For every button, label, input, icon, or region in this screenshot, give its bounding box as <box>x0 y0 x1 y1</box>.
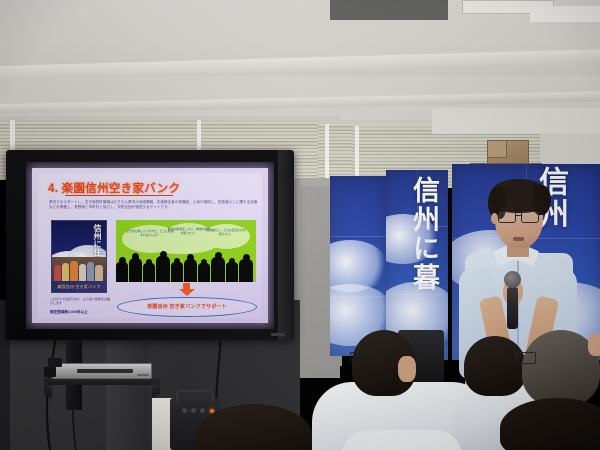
crowd-silhouette <box>184 259 197 282</box>
bubble-text: 田舎暮らし、どんな生活なのか知りたい。 <box>206 229 246 236</box>
amplifier-knob[interactable] <box>182 408 187 413</box>
blind-light-gap <box>325 122 329 186</box>
poster-figure <box>95 265 103 281</box>
poster-figure <box>79 264 86 281</box>
poster-figure <box>54 265 61 281</box>
poster-photo <box>52 257 106 281</box>
microphone-body[interactable] <box>507 287 518 329</box>
presenter-mouth <box>513 237 524 241</box>
slide-poster-image: 信州に住みたい 楽園信州 空き家バンク <box>51 220 107 293</box>
attendee-glasses-left <box>350 352 366 362</box>
tv-brand-logo <box>271 333 285 336</box>
slide-callout-oval: 楽園信州 空き家バンクでサポート <box>117 297 257 317</box>
amplifier-knob[interactable] <box>191 408 196 413</box>
disc-tray-slot[interactable] <box>77 369 133 373</box>
disc-player[interactable] <box>52 363 152 379</box>
slide-canvas: 4. 楽園信州空き家バンク 県内でのスタートし、空き家物件情報はもちろん県内の地… <box>38 173 262 318</box>
bubble-text: 移住の相談をしたい。地域の情報が知りたい。 <box>168 228 210 235</box>
slide-footnote: これだけでは足りない…より良い情報をお届けします <box>50 297 112 306</box>
glasses-lens-right <box>521 211 539 223</box>
crowd-silhouette <box>116 262 128 282</box>
ceiling-light-panel <box>530 6 600 22</box>
attendee-glasses-right <box>516 352 536 364</box>
crowd-head <box>201 259 207 265</box>
slide-title-underline <box>65 195 173 196</box>
glasses-lens-left <box>498 211 516 223</box>
crowd-head <box>215 252 222 259</box>
slide-body-text: 県内でのスタートし、空き家物件情報はもちろん県内の地域情報、先輩移住者の体験談、… <box>49 200 261 211</box>
slide-green-panel: 空き家を探したいけれど、どこに相談すればいいの？ 移住の相談をしたい。地域の情報… <box>116 220 256 282</box>
set-top-box <box>48 358 62 367</box>
wall-band <box>432 108 600 134</box>
speech-bubble <box>146 236 216 254</box>
presenter-ear <box>491 213 498 224</box>
tv-bezel-highlight <box>278 150 294 340</box>
attendee-head-center <box>464 336 526 396</box>
slide-footnote-emphasis: 現在登録数2,000件以上 <box>50 310 118 315</box>
slide-title: 4. 楽園信州空き家バンク <box>48 180 254 196</box>
cardboard-box-flap <box>487 140 507 158</box>
crowd-silhouette <box>143 263 155 282</box>
poster-figure <box>70 261 78 281</box>
tv-screen: 4. 楽園信州空き家バンク 県内でのスタートし、空き家物件情報はもちろん県内の地… <box>26 162 274 329</box>
banner-left-panel <box>330 176 386 356</box>
crowd-silhouette <box>211 257 225 282</box>
disc-player-buttons[interactable] <box>137 374 149 376</box>
blind-headrail <box>0 116 340 120</box>
attendee-face-right <box>588 334 600 356</box>
callout-text: 楽園信州 空き家バンクでサポート <box>118 303 256 310</box>
poster-figure <box>62 263 69 281</box>
crowd-silhouette <box>198 263 210 282</box>
crowd-head <box>243 254 250 261</box>
crowd-head <box>174 258 180 264</box>
crowd-head <box>132 253 139 260</box>
crowd-silhouette <box>129 258 142 282</box>
crowd-silhouette <box>156 256 170 282</box>
ceiling-vent <box>330 0 448 20</box>
attendee-shoulder-foreground <box>342 430 462 450</box>
amplifier-knob[interactable] <box>200 408 205 413</box>
down-arrow-head <box>179 289 195 296</box>
glasses-bridge <box>516 215 521 216</box>
flat-screen-tv[interactable]: 4. 楽園信州空き家バンク 県内でのスタートし、空き家物件情報はもちろん県内の地… <box>6 150 294 340</box>
microphone-head[interactable] <box>504 271 521 288</box>
banner-crease <box>330 236 386 237</box>
crowd-head <box>229 258 235 264</box>
amplifier-handle[interactable] <box>176 390 214 402</box>
poster-figure <box>87 262 94 281</box>
presentation-slide: 4. 楽園信州空き家バンク 県内でのスタートし、空き家物件情報はもちろん県内の地… <box>32 168 268 323</box>
equipment-shelf <box>44 378 160 385</box>
poster-caption: 楽園信州 空き家バンク <box>52 281 106 292</box>
crowd-head <box>187 254 194 261</box>
bubble-text: 空き家を探したいけれど、どこに相談すればいいの？ <box>126 230 174 237</box>
banner-crease <box>330 296 386 297</box>
crowd-silhouette <box>239 259 253 282</box>
crowd-head <box>160 251 167 258</box>
crowd-silhouette <box>226 262 238 282</box>
crowd-silhouette <box>171 262 183 282</box>
set-top-box-2 <box>44 367 56 377</box>
crowd-head <box>119 257 126 264</box>
attendee-neck-left <box>398 356 416 382</box>
photo-scene: 4. 楽園信州空き家バンク 県内でのスタートし、空き家物件情報はもちろん県内の地… <box>0 0 600 450</box>
crowd-head <box>146 259 152 265</box>
